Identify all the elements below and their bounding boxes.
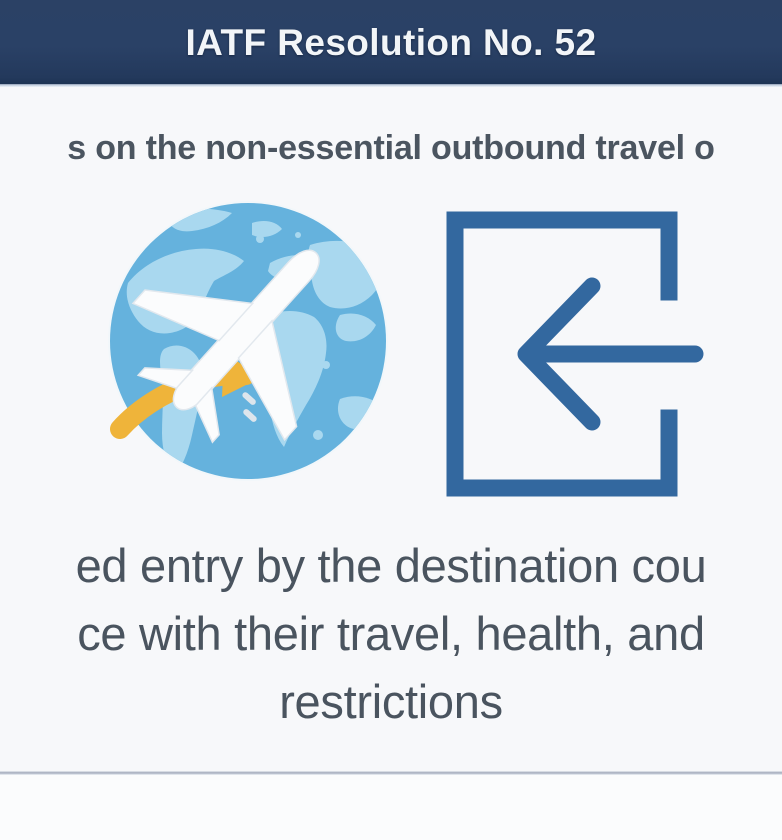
enter-arrow-icon [440,200,708,500]
icon-row [0,195,782,507]
header-band: IATF Resolution No. 52 [0,0,782,84]
page-title: IATF Resolution No. 52 [185,24,596,61]
slide-root: IATF Resolution No. 52 s on the non-esse… [0,0,782,840]
subtitle-row: s on the non-essential outbound travel o [0,118,782,180]
body-line-1: ed entry by the destination cou [76,532,707,600]
body-line-2: ce with their travel, health, and [77,600,705,668]
body-text-block: ed entry by the destination cou ce with … [0,528,782,760]
bottom-area [0,775,782,840]
globe-airplane-icon [104,197,392,485]
subtitle-text: s on the non-essential outbound travel o [67,118,714,178]
header-underline [0,84,782,87]
body-line-3: restrictions [279,668,503,736]
